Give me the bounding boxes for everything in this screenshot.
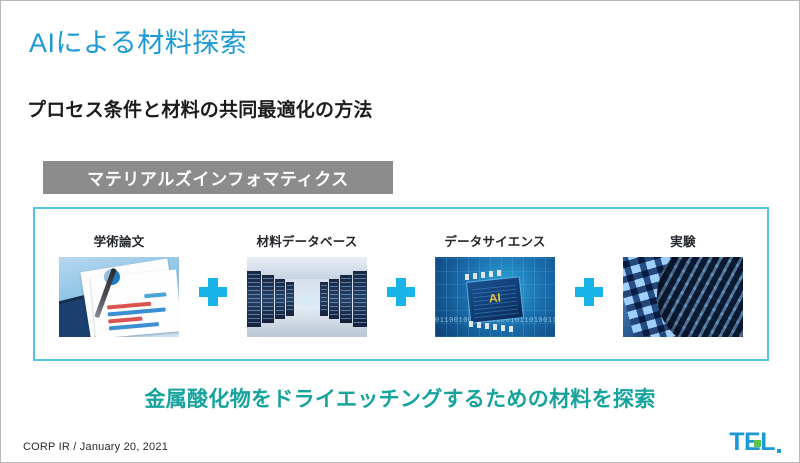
plus-separator-2 (379, 262, 423, 306)
tel-logo-text: TEL (729, 430, 775, 455)
chip-pin (477, 322, 481, 328)
chip-pin (489, 271, 493, 277)
pillar-materials-database: 材料データベース (235, 231, 379, 337)
chip-pin (485, 323, 489, 329)
slide-subtitle: プロセス条件と材料の共同最適化の方法 (27, 95, 373, 122)
pillar-label: 材料データベース (257, 231, 358, 250)
plus-icon (199, 278, 227, 306)
silicon-wafer-photo (623, 257, 743, 337)
pillars-row: 学術論文 材料データベース (33, 207, 769, 361)
server-rack (247, 271, 261, 327)
chip-pin (465, 274, 469, 280)
chip-pin (501, 325, 505, 331)
chip-pin (481, 272, 485, 278)
page-title: AIによる材料探索 (29, 21, 247, 60)
pillar-experiment: 実験 (611, 231, 755, 337)
tel-logo-dot (777, 449, 781, 453)
chip-pin (493, 324, 497, 330)
server-rack (262, 275, 274, 323)
pillar-data-science: データサイエンス 0110010011010100101101001101010… (423, 231, 567, 337)
wafer-disc (657, 257, 743, 337)
server-rack (353, 271, 367, 327)
plus-icon (575, 278, 603, 306)
server-rack (275, 279, 285, 319)
chip-label: AI (468, 288, 521, 307)
chip-pin (473, 273, 477, 279)
server-rack (286, 282, 294, 316)
pillar-label: 学術論文 (94, 231, 145, 250)
plus-separator-1 (191, 262, 235, 306)
data-center-photo (247, 257, 367, 337)
pillar-label: データサイエンス (444, 231, 545, 250)
conclusion-text: 金属酸化物をドライエッチングするための材料を探索 (1, 383, 799, 413)
pillar-academic-papers: 学術論文 (47, 231, 191, 337)
footer-source: CORP IR / January 20, 2021 (23, 441, 168, 453)
chart-bar (108, 317, 142, 324)
server-rack (340, 275, 352, 323)
chip-pin (469, 321, 473, 327)
server-rack (329, 279, 339, 319)
tel-logo: TEL (729, 431, 781, 455)
ai-chip-photo: 0110010011010100101101001101010010110100… (435, 257, 555, 337)
chart-bar (144, 292, 166, 298)
chip-pin (497, 270, 501, 276)
server-rack (320, 282, 328, 316)
corridor-glow (291, 283, 323, 317)
materials-informatics-banner: マテリアルズインフォマティクス (43, 161, 393, 194)
pillar-label: 実験 (670, 231, 695, 250)
plus-separator-3 (567, 262, 611, 306)
presentation-slide: AIによる材料探索 プロセス条件と材料の共同最適化の方法 マテリアルズインフォマ… (0, 0, 800, 463)
tel-logo-green-accent (754, 440, 761, 447)
chip-pin (509, 326, 513, 332)
processor-chip: AI (466, 276, 524, 323)
banner-label: マテリアルズインフォマティクス (87, 165, 349, 190)
chart-bar (108, 307, 166, 316)
plus-icon (387, 278, 415, 306)
chart-bar (109, 322, 159, 330)
academic-papers-photo (59, 257, 179, 337)
